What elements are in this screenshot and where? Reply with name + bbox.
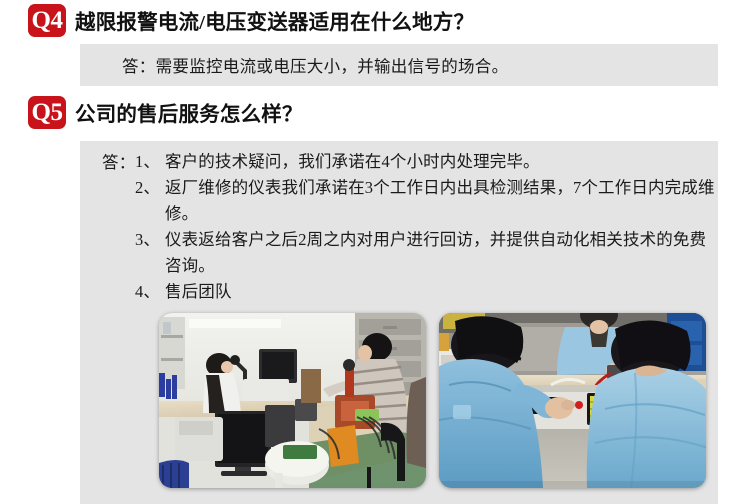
answer-label-q5: 答： — [102, 149, 135, 173]
answer-label-q4: 答： — [122, 57, 156, 76]
faq-page: Q4 越限报警电流/电压变送器适用在什么地方？ 答：需要监控电流或电压大小，并输… — [0, 0, 750, 504]
answer-text-q4: 答：需要监控电流或电压大小，并输出信号的场合。 — [122, 53, 718, 77]
question-badge-q5: Q5 — [28, 96, 66, 129]
list-item-text: 返厂维修的仪表我们承诺在3个工作日内出具检测结果，7个工作日内完成维修。 — [165, 175, 718, 227]
answer-item-list-q5: 1、 客户的技术疑问，我们承诺在4个小时内处理完毕。 2、 返厂维修的仪表我们承… — [135, 149, 718, 488]
after-sales-team-testing-photo — [439, 313, 706, 488]
answer-box-q5: 答： 1、 客户的技术疑问，我们承诺在4个小时内处理完毕。 2、 返厂维修的仪表… — [80, 141, 718, 504]
list-item-number: 3、 — [135, 227, 165, 253]
answer-box-q4: 答：需要监控电流或电压大小，并输出信号的场合。 — [80, 44, 718, 86]
answer-body-q4: 需要监控电流或电压大小，并输出信号的场合。 — [156, 57, 509, 76]
list-item-number: 4、 — [135, 279, 165, 305]
list-item: 3、 仪表返给客户之后2周之内对用户进行回访，并提供自动化相关技术的免费咨询。 — [135, 227, 718, 279]
list-item-number: 2、 — [135, 175, 165, 201]
question-badge-q4: Q4 — [28, 4, 66, 37]
question-title-q4: 越限报警电流/电压变送器适用在什么地方？ — [75, 5, 474, 35]
answer-list-wrapper-q5: 答： 1、 客户的技术疑问，我们承诺在4个小时内处理完毕。 2、 返厂维修的仪表… — [102, 149, 718, 488]
after-sales-team-photo-row — [159, 313, 718, 488]
question-row-q4: Q4 越限报警电流/电压变送器适用在什么地方？ — [0, 0, 750, 40]
list-item: 1、 客户的技术疑问，我们承诺在4个小时内处理完毕。 — [135, 149, 718, 175]
list-item: 2、 返厂维修的仪表我们承诺在3个工作日内出具检测结果，7个工作日内完成维修。 — [135, 175, 718, 227]
faq-entry-q5: Q5 公司的售后服务怎么样？ — [0, 92, 750, 132]
after-sales-team-office-photo — [159, 313, 426, 488]
faq-entry-q4: Q4 越限报警电流/电压变送器适用在什么地方？ — [0, 0, 750, 40]
list-item-text: 客户的技术疑问，我们承诺在4个小时内处理完毕。 — [165, 149, 718, 175]
question-title-q5: 公司的售后服务怎么样？ — [75, 97, 303, 127]
list-item-text: 仪表返给客户之后2周之内对用户进行回访，并提供自动化相关技术的免费咨询。 — [165, 227, 718, 279]
list-item-text: 售后团队 — [165, 279, 718, 305]
office-photo-graphic — [159, 313, 426, 488]
list-item-number: 1、 — [135, 149, 165, 175]
list-item: 4、 售后团队 — [135, 279, 718, 305]
testing-photo-graphic — [439, 313, 706, 488]
question-row-q5: Q5 公司的售后服务怎么样？ — [0, 92, 750, 132]
